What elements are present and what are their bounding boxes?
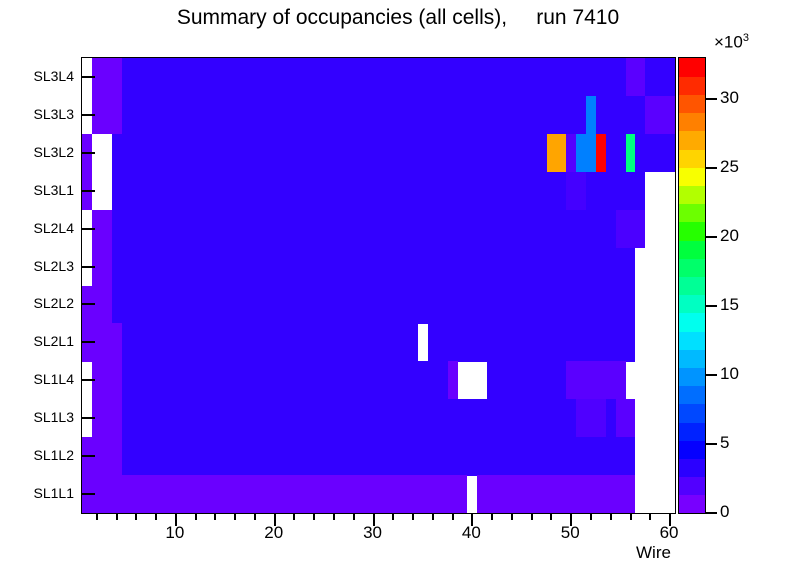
colorbar-segment <box>679 440 705 459</box>
colorbar-exponent-base: ×10 <box>714 33 743 52</box>
y-axis-tick-label-sl3l1: SL3L1 <box>34 182 74 198</box>
heatmap-cell <box>635 134 675 173</box>
heatmap-cell <box>576 134 596 173</box>
colorbar-tick-mark <box>706 512 717 514</box>
y-axis-tick-label-sl3l2: SL3L2 <box>34 144 74 160</box>
y-axis-tick-mark <box>82 190 95 192</box>
heatmap-cell <box>626 134 636 173</box>
color-scale-bar[interactable] <box>678 57 706 514</box>
colorbar-segment <box>679 276 705 295</box>
y-axis-tick-label-sl1l4: SL1L4 <box>34 371 74 387</box>
heatmap-cell <box>576 399 606 438</box>
colorbar-segment <box>679 367 705 386</box>
x-axis-tick-label-60: 60 <box>660 523 679 543</box>
colorbar-segment <box>679 240 705 259</box>
heatmap-cell <box>92 399 122 438</box>
y-axis-tick-label-sl3l4: SL3L4 <box>34 68 74 84</box>
y-axis-tick-label-sl1l1: SL1L1 <box>34 485 74 501</box>
colorbar-segment <box>679 295 705 314</box>
colorbar-segment <box>679 185 705 204</box>
heatmap-cell <box>122 399 577 438</box>
heatmap-cell <box>112 286 636 325</box>
colorbar-segment <box>679 386 705 405</box>
y-axis-tick-mark <box>82 266 95 268</box>
heatmap-cell <box>606 399 616 438</box>
x-axis-tick-mark <box>214 513 216 520</box>
heatmap-cell <box>547 58 626 97</box>
colorbar-segment <box>679 149 705 168</box>
x-axis-tick-mark <box>531 513 533 520</box>
colorbar-tick-mark <box>706 374 717 376</box>
heatmap-cell <box>645 58 675 97</box>
colorbar-segment <box>679 422 705 441</box>
heatmap-cell <box>92 58 122 97</box>
heatmap-cell <box>596 96 645 135</box>
colorbar-tick-label-25: 25 <box>720 157 739 177</box>
x-axis-tick-mark <box>333 513 335 520</box>
x-axis-tick-label-50: 50 <box>561 523 580 543</box>
y-axis-tick-mark <box>82 114 95 116</box>
colorbar-tick-label-0: 0 <box>720 502 729 522</box>
colorbar-segment <box>679 477 705 496</box>
heatmap-cell <box>487 361 566 400</box>
x-axis-tick-mark <box>293 513 295 520</box>
heatmap-cell <box>448 361 458 400</box>
heatmap-cell <box>616 399 636 438</box>
heatmap-cell <box>566 172 586 211</box>
x-axis-tick-mark <box>491 513 493 520</box>
y-axis-tick-label-sl1l2: SL1L2 <box>34 447 74 463</box>
colorbar-segment <box>679 331 705 350</box>
y-axis-tick-mark <box>82 228 95 230</box>
heatmap-cell <box>82 475 467 513</box>
colorbar-segment <box>679 58 705 77</box>
y-axis-tick-label-sl2l3: SL2L3 <box>34 258 74 274</box>
colorbar-segment <box>679 204 705 223</box>
x-axis-tick-label-30: 30 <box>363 523 382 543</box>
y-axis-tick-mark <box>82 379 95 381</box>
colorbar-exponent-power: 3 <box>743 32 749 44</box>
x-axis-tick-mark <box>550 513 552 520</box>
heatmap-cell <box>606 134 626 173</box>
colorbar-segment <box>679 495 705 514</box>
colorbar-segment <box>679 349 705 368</box>
heatmap-cell <box>122 437 636 476</box>
x-axis-tick-mark <box>392 513 394 520</box>
heatmap-cell <box>112 172 567 211</box>
y-axis-tick-label-sl1l3: SL1L3 <box>34 409 74 425</box>
y-axis-tick-mark <box>82 455 95 457</box>
colorbar-tick-mark <box>706 443 717 445</box>
heatmap-cell <box>92 96 122 135</box>
y-axis-tick-mark <box>82 341 95 343</box>
y-axis-tick-label-sl2l1: SL2L1 <box>34 333 74 349</box>
x-axis-tick-mark <box>116 513 118 520</box>
colorbar-tick-mark <box>706 236 717 238</box>
colorbar-segment <box>679 113 705 132</box>
colorbar-segment <box>679 258 705 277</box>
x-axis-tick-mark <box>353 513 355 520</box>
colorbar-exponent-label: ×103 <box>714 32 749 53</box>
colorbar-segment <box>679 313 705 332</box>
y-axis-tick-mark <box>82 76 95 78</box>
x-axis-tick-mark <box>610 513 612 520</box>
heatmap-cell <box>645 96 675 135</box>
heatmap-cell <box>112 248 636 287</box>
x-axis-tick-mark <box>452 513 454 520</box>
heatmap-cells-area[interactable] <box>82 58 675 513</box>
heatmap-cell <box>566 361 625 400</box>
colorbar-segment <box>679 76 705 95</box>
y-axis-tick-mark <box>82 417 95 419</box>
x-axis-tick-mark <box>649 513 651 520</box>
heatmap-cell <box>566 134 576 173</box>
colorbar-tick-mark <box>706 167 717 169</box>
colorbar-tick-label-30: 30 <box>720 88 739 108</box>
x-axis-tick-mark <box>234 513 236 520</box>
heatmap-cell <box>122 361 448 400</box>
x-axis-tick-mark <box>412 513 414 520</box>
x-axis-tick-mark <box>432 513 434 520</box>
y-axis-tick-mark <box>82 303 95 305</box>
colorbar-tick-mark <box>706 98 717 100</box>
colorbar-tick-label-5: 5 <box>720 433 729 453</box>
colorbar-segment <box>679 131 705 150</box>
x-axis-tick-label-20: 20 <box>264 523 283 543</box>
x-axis-tick-mark <box>511 513 513 520</box>
y-axis-tick-label-sl2l2: SL2L2 <box>34 295 74 311</box>
heatmap-cell <box>586 172 645 211</box>
colorbar-tick-label-20: 20 <box>720 226 739 246</box>
colorbar-tick-label-15: 15 <box>720 295 739 315</box>
root-canvas: Summary of occupancies (all cells), run … <box>0 0 796 572</box>
heatmap-cell <box>547 134 567 173</box>
page-title: Summary of occupancies (all cells), run … <box>0 6 796 30</box>
heatmap-cell <box>477 475 635 513</box>
heatmap-cell <box>586 96 596 135</box>
heatmap-cell <box>112 134 547 173</box>
x-axis-tick-mark <box>254 513 256 520</box>
colorbar-segment <box>679 458 705 477</box>
x-axis-tick-mark <box>590 513 592 520</box>
y-axis-tick-label-sl2l4: SL2L4 <box>34 220 74 236</box>
heatmap-cell <box>92 361 122 400</box>
heatmap-cell <box>616 210 646 249</box>
heatmap-cell <box>122 96 587 135</box>
heatmap-cell <box>626 58 646 97</box>
x-axis-tick-mark <box>195 513 197 520</box>
x-axis-tick-mark <box>630 513 632 520</box>
y-axis-tick-label-sl3l3: SL3L3 <box>34 106 74 122</box>
colorbar-tick-mark <box>706 305 717 307</box>
x-axis-tick-label-40: 40 <box>462 523 481 543</box>
x-axis-tick-mark <box>135 513 137 520</box>
heatmap-cell <box>596 134 606 173</box>
colorbar-tick-label-10: 10 <box>720 364 739 384</box>
x-axis-tick-mark <box>96 513 98 520</box>
colorbar-segment <box>679 404 705 423</box>
heatmap-plot-frame[interactable] <box>81 57 676 514</box>
colorbar-segment <box>679 167 705 186</box>
heatmap-cell <box>122 323 419 362</box>
colorbar-segment <box>679 94 705 113</box>
heatmap-cell <box>112 210 616 249</box>
heatmap-cell <box>122 58 547 97</box>
colorbar-segment <box>679 222 705 241</box>
y-axis-tick-mark <box>82 493 95 495</box>
y-axis-tick-mark <box>82 152 95 154</box>
heatmap-cell <box>428 323 636 362</box>
x-axis-tick-label-10: 10 <box>165 523 184 543</box>
x-axis-title: Wire <box>636 543 671 563</box>
x-axis-tick-mark <box>155 513 157 520</box>
x-axis-tick-mark <box>313 513 315 520</box>
